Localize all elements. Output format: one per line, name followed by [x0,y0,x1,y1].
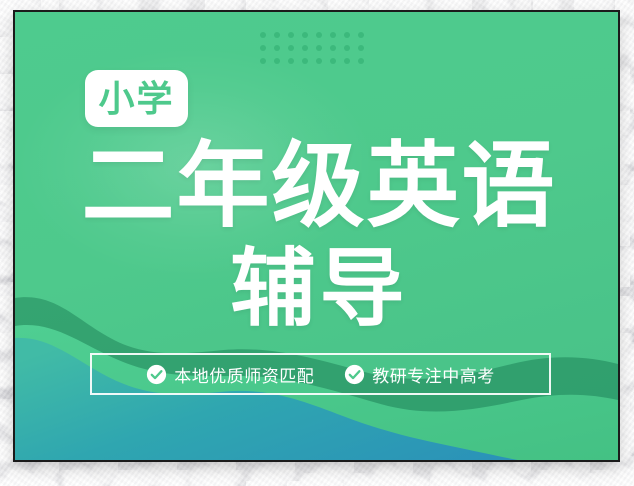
feature-item-1: 本地优质师资匹配 [146,362,314,387]
check-circle-icon [344,364,365,385]
feature-item-2: 教研专注中高考 [344,362,495,387]
headline-line-2: 辅导 [15,247,618,332]
feature-bar: 本地优质师资匹配 教研专注中高考 [90,353,551,395]
check-circle-icon [146,364,167,385]
page-title: 二年级英语 辅导 [15,140,618,332]
poster-card: 小学 二年级英语 辅导 本地优质师资匹配 教研专注中高考 [13,10,620,462]
level-badge-label: 小学 [98,81,174,117]
headline-line-1: 二年级英语 [15,140,618,233]
level-badge: 小学 [85,70,188,127]
dot-grid-icon [260,32,372,71]
feature-label-2: 教研专注中高考 [372,362,495,387]
feature-label-1: 本地优质师资匹配 [174,362,314,387]
